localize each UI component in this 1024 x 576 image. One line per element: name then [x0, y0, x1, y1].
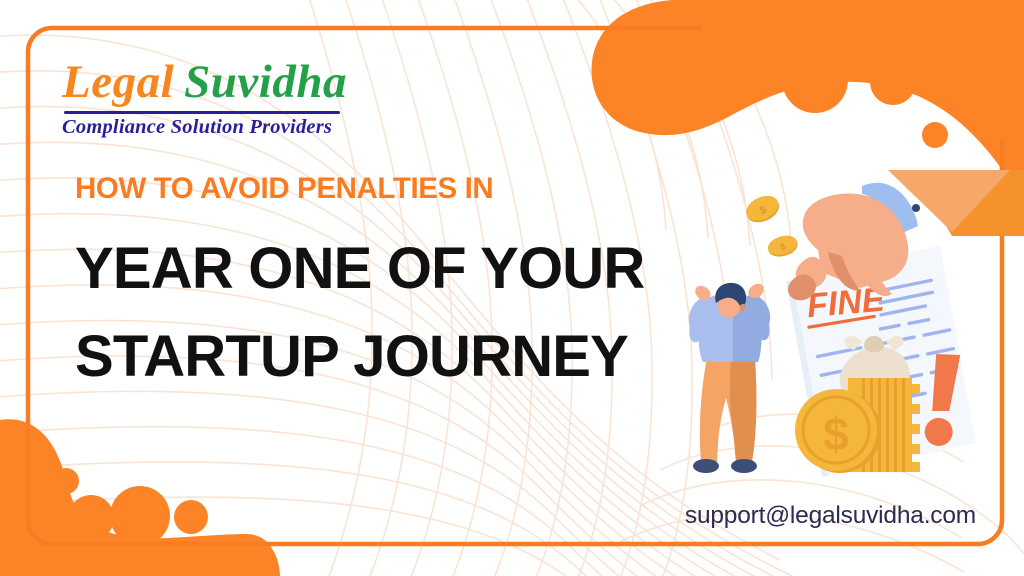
brand-logo[interactable]: LegalSuvidha Compliance Solution Provide…	[62, 58, 422, 139]
fine-document: FINE	[784, 244, 978, 478]
person-pants	[700, 358, 757, 462]
falling-coins: $ $	[742, 191, 800, 260]
money-bag-tie-left	[844, 336, 862, 350]
sleeve-fold	[888, 170, 1010, 232]
exclamation-dot	[923, 416, 954, 447]
headline-line-1: YEAR ONE OF YOUR	[75, 240, 695, 298]
person-pants-shade	[730, 358, 757, 462]
stressed-person	[689, 283, 770, 473]
logo-word-legal: Legal	[62, 56, 174, 108]
finger-shade	[828, 252, 860, 291]
falling-coin-lower: $	[766, 232, 800, 259]
headline-line-2: STARTUP JOURNEY	[75, 328, 695, 386]
svg-text:$: $	[758, 204, 769, 217]
coin-stack-notches	[912, 384, 920, 472]
person-hand-right	[748, 284, 763, 298]
headline-group: HOW TO AVOID PENALTIES IN YEAR ONE OF YO…	[75, 174, 695, 386]
front-coin-ring	[803, 397, 869, 463]
front-coin-shadow	[799, 391, 881, 473]
front-coin-symbol: $	[823, 408, 849, 460]
logo-tagline: Compliance Solution Providers	[62, 116, 422, 139]
blob-bottom-left	[0, 417, 280, 576]
document-lines	[812, 279, 962, 432]
svg-text:$: $	[779, 241, 788, 253]
thumb	[852, 256, 892, 296]
coin-stack: $	[795, 378, 920, 473]
contact-email[interactable]: support@legalsuvidha.com	[685, 502, 976, 530]
finger-index	[796, 257, 827, 289]
person-shoe-left	[693, 459, 719, 473]
logo-divider-rule	[64, 111, 340, 114]
money-bag-tie-right	[886, 336, 904, 350]
person-head	[717, 290, 741, 318]
coin-stack-body	[848, 378, 912, 472]
person-hair	[715, 283, 746, 307]
document-fine-underline	[808, 316, 874, 327]
sleeve	[888, 170, 1024, 236]
logo-wordmark: LegalSuvidha	[62, 58, 422, 107]
document-fine-heading: FINE	[805, 280, 887, 325]
person-sweater-shade	[733, 294, 761, 362]
hand-palm	[803, 194, 909, 289]
document-paper-edge	[786, 279, 828, 478]
falling-coin-upper: $	[742, 191, 783, 227]
exclamation-mark	[923, 352, 962, 448]
person-ear	[740, 304, 745, 312]
money-bag	[840, 336, 910, 401]
money-bag-body	[840, 346, 910, 401]
banner-canvas: $ $	[0, 0, 1024, 576]
person-sweater	[699, 294, 762, 362]
cuff-button	[912, 204, 920, 212]
document-paper	[784, 244, 978, 478]
sleeve-cuff	[862, 183, 918, 234]
finger-middle	[788, 274, 816, 300]
coin-stack-ridges	[862, 378, 905, 472]
headline-eyebrow: HOW TO AVOID PENALTIES IN	[75, 174, 695, 204]
person-hand-left	[695, 286, 710, 300]
logo-word-suvidha: Suvidha	[184, 56, 347, 108]
hand-with-sleeve	[788, 170, 1024, 300]
person-shoe-right	[731, 459, 757, 473]
exclamation-bar	[929, 352, 960, 413]
money-bag-neck	[864, 336, 884, 352]
front-coin	[795, 389, 877, 471]
person-arm-right	[743, 298, 770, 340]
